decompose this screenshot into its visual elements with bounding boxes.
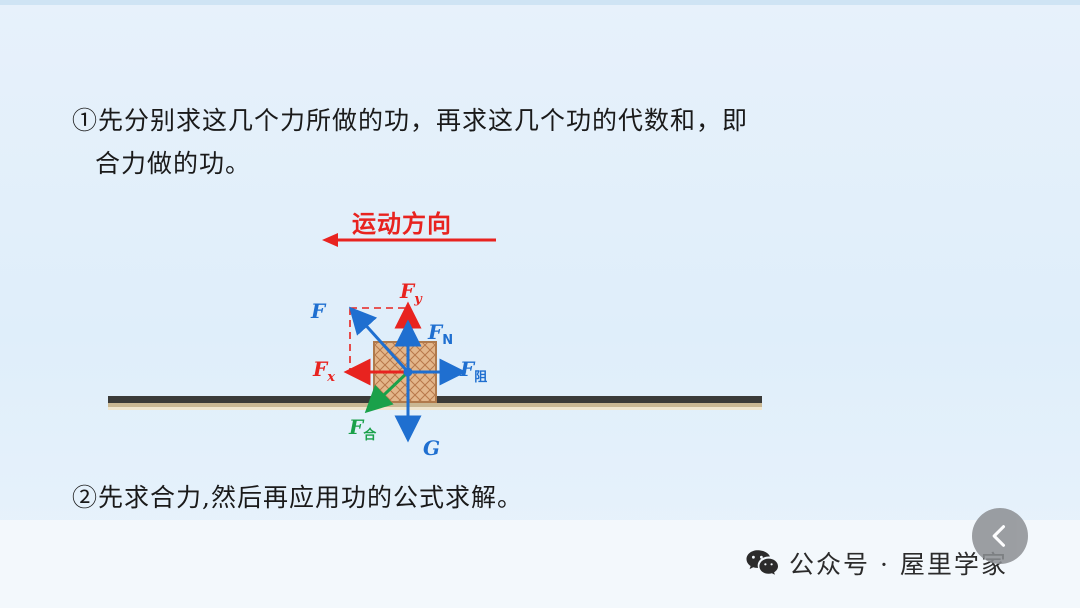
top-divider	[0, 0, 1080, 5]
label-force-Fx: Fx	[313, 357, 335, 385]
label-force-Fy: Fy	[400, 279, 422, 307]
paragraph-1-line-2: 合力做的功。	[95, 144, 251, 180]
label-force-FN: FN	[428, 320, 453, 348]
label-force-G: G	[423, 436, 440, 460]
label-force-F-resultant: F合	[349, 415, 376, 443]
wechat-credit: 公众号 · 屋里学家	[745, 545, 1008, 581]
label-force-F: F	[311, 299, 325, 323]
force-diagram	[100, 260, 800, 480]
motion-direction-arrow-icon	[318, 228, 498, 252]
wechat-icon	[745, 548, 779, 578]
chevron-left-icon	[986, 522, 1014, 550]
previous-slide-button[interactable]	[972, 508, 1028, 564]
paragraph-2: ②先求合力,然后再应用功的公式求解。	[72, 478, 523, 514]
label-force-F-friction: F阻	[460, 357, 487, 385]
slide-canvas: ①先分别求这几个力所做的功，再求这几个功的代数和，即 合力做的功。 运动方向	[0, 0, 1080, 608]
paragraph-1-line-1: ①先分别求这几个力所做的功，再求这几个功的代数和，即	[72, 101, 748, 137]
